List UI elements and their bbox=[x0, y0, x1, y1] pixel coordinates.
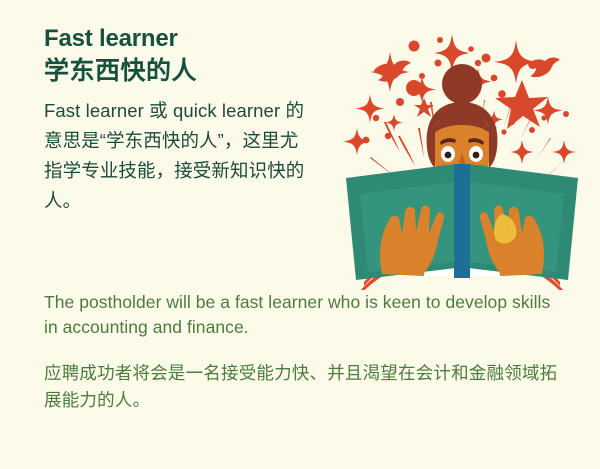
dot-icon bbox=[501, 129, 506, 134]
dot-icon bbox=[541, 115, 546, 120]
vocabulary-card: Fast learner 学东西快的人 Fast learner 或 quick… bbox=[0, 0, 600, 469]
reader-illustration bbox=[326, 18, 598, 290]
four-point-sparkle-icon bbox=[355, 94, 385, 123]
page-title-english: Fast learner bbox=[44, 26, 312, 53]
book-spine bbox=[454, 164, 470, 278]
dot-icon bbox=[406, 80, 422, 96]
dot-icon bbox=[437, 37, 443, 43]
dot-icon bbox=[563, 111, 569, 117]
text-column: Fast learner 学东西快的人 Fast learner 或 quick… bbox=[44, 26, 312, 216]
pupil-right bbox=[473, 152, 480, 159]
example-sentence-chinese: 应聘成功者将会是一名接受能力快、并且渴望在会计和金融领域拓展能力的人。 bbox=[44, 360, 564, 413]
bird-icon bbox=[528, 57, 560, 77]
five-point-star-icon bbox=[495, 80, 548, 129]
example-block: The postholder will be a fast learner wh… bbox=[44, 290, 564, 414]
dot-icon bbox=[373, 115, 379, 121]
dot-icon bbox=[435, 60, 442, 67]
streak-icon bbox=[418, 128, 424, 158]
hair-bun bbox=[442, 64, 482, 104]
dot-icon bbox=[409, 41, 420, 52]
pupil-left bbox=[445, 152, 452, 159]
dot-icon bbox=[468, 46, 474, 52]
dot-icon bbox=[498, 90, 506, 98]
dot-icon bbox=[419, 73, 425, 79]
dot-icon bbox=[396, 98, 404, 106]
dot-icon bbox=[475, 60, 481, 66]
dot-icon bbox=[509, 119, 515, 125]
four-point-sparkle-icon bbox=[510, 140, 534, 164]
dot-icon bbox=[529, 127, 535, 133]
dot-icon bbox=[491, 75, 498, 82]
example-sentence-english: The postholder will be a fast learner wh… bbox=[44, 290, 564, 340]
dot-icon bbox=[482, 54, 491, 63]
dot-icon bbox=[363, 137, 370, 144]
four-point-sparkle-icon bbox=[552, 140, 576, 164]
streak-icon bbox=[398, 136, 415, 166]
page-title-chinese: 学东西快的人 bbox=[44, 57, 312, 87]
definition-paragraph: Fast learner 或 quick learner 的意思是“学东西快的人… bbox=[44, 96, 312, 216]
